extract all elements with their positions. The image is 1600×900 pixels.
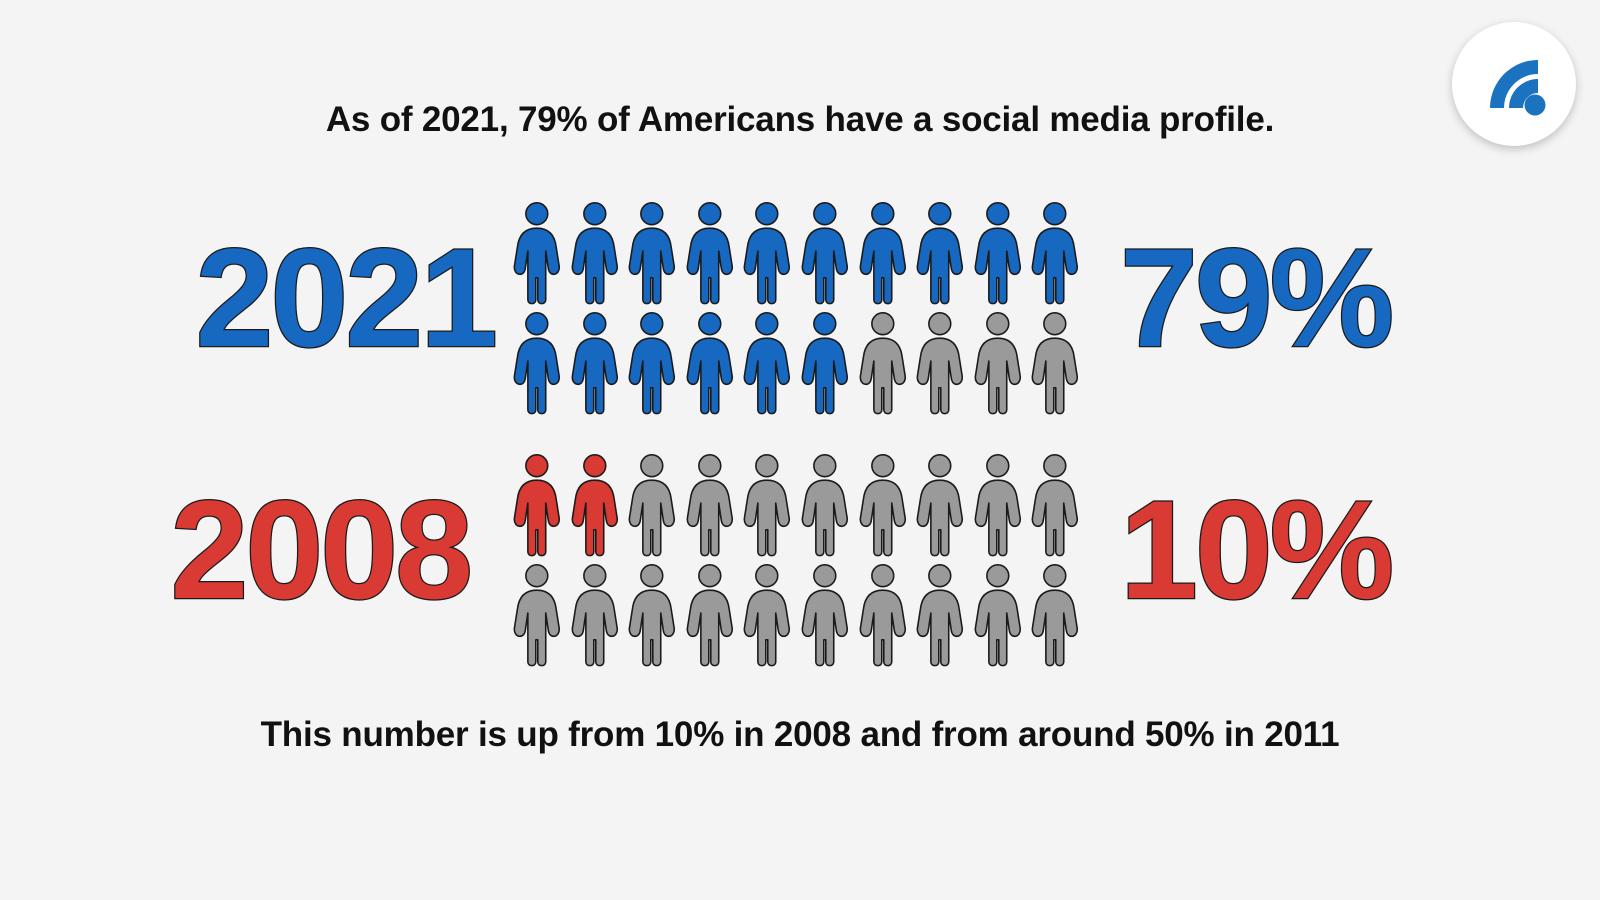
person-icon-empty [681, 448, 739, 558]
page-title: As of 2021, 79% of Americans have a soci… [0, 100, 1600, 140]
icon-grid-2021 [508, 196, 1084, 416]
icon-grid-2008 [508, 448, 1084, 668]
person-icon-filled [681, 306, 739, 416]
person-icon-empty [1026, 448, 1084, 558]
person-icon-filled [566, 448, 624, 558]
person-icon-filled [508, 196, 566, 306]
icon-row [508, 448, 1084, 558]
icon-row [508, 306, 1084, 416]
person-icon-filled [508, 448, 566, 558]
person-icon-filled [623, 306, 681, 416]
person-icon-filled [969, 196, 1027, 306]
icon-row [508, 558, 1084, 668]
person-icon-filled [566, 196, 624, 306]
percent-label-2008: 10% [1120, 480, 1450, 620]
person-icon-empty [969, 306, 1027, 416]
person-icon-empty [796, 448, 854, 558]
pictogram-chart: 2021 79% 2008 10% [0, 180, 1600, 680]
person-icon-empty [508, 558, 566, 668]
person-icon-filled [623, 196, 681, 306]
person-icon-empty [623, 448, 681, 558]
icon-row [508, 196, 1084, 306]
person-icon-empty [969, 448, 1027, 558]
percent-label-2021: 79% [1120, 228, 1450, 368]
person-icon-filled [738, 306, 796, 416]
person-icon-filled [854, 196, 912, 306]
person-icon-empty [854, 558, 912, 668]
person-icon-empty [566, 558, 624, 668]
chart-caption: This number is up from 10% in 2008 and f… [0, 715, 1600, 755]
person-icon-filled [508, 306, 566, 416]
year-label-2008: 2008 [120, 480, 470, 620]
person-icon-empty [969, 558, 1027, 668]
person-icon-filled [681, 196, 739, 306]
person-icon-empty [911, 306, 969, 416]
chart-group-2021: 2021 79% [0, 190, 1600, 420]
person-icon-empty [738, 448, 796, 558]
person-icon-empty [1026, 558, 1084, 668]
person-icon-empty [681, 558, 739, 668]
person-icon-filled [738, 196, 796, 306]
person-icon-filled [796, 306, 854, 416]
person-icon-filled [911, 196, 969, 306]
person-icon-empty [796, 558, 854, 668]
person-icon-empty [1026, 306, 1084, 416]
person-icon-filled [566, 306, 624, 416]
person-icon-empty [623, 558, 681, 668]
person-icon-filled [1026, 196, 1084, 306]
person-icon-filled [796, 196, 854, 306]
person-icon-empty [911, 558, 969, 668]
person-icon-empty [738, 558, 796, 668]
chart-group-2008: 2008 10% [0, 442, 1600, 672]
person-icon-empty [854, 306, 912, 416]
person-icon-empty [911, 448, 969, 558]
person-icon-empty [854, 448, 912, 558]
year-label-2021: 2021 [145, 228, 495, 368]
